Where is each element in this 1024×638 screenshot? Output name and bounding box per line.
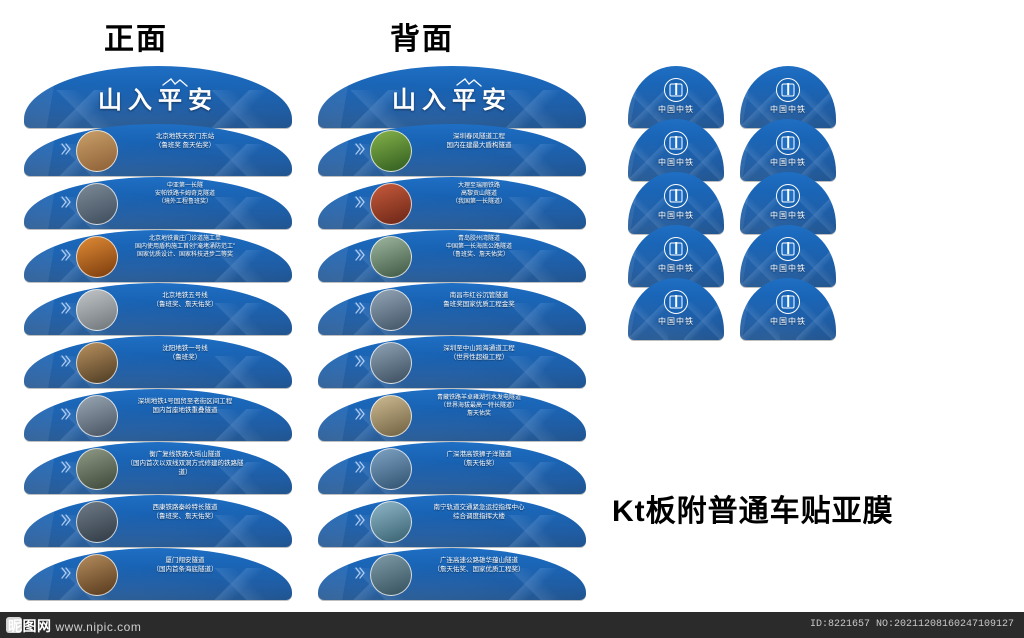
project-caption: 西康铁路秦岭特长隧道 （鲁班奖、詹天佑奖） bbox=[124, 504, 246, 522]
project-arch-row: 大理至瑞丽铁路 高黎贡山隧道 （我国第一长隧道） bbox=[318, 177, 586, 229]
project-caption: 沈阳地铁一号线 （鲁班奖） bbox=[124, 345, 246, 363]
project-caption: 深圳春风隧道工程 国内在建最大盾构隧道 bbox=[418, 133, 540, 151]
project-arch-row: 青岛胶州湾隧道 中国第一长海底公路隧道 （鲁班奖、詹天佑奖） bbox=[318, 230, 586, 282]
crcc-seal-icon bbox=[776, 237, 800, 261]
chevron-right-icon bbox=[60, 196, 72, 208]
project-caption: 厦门翔安隧道 （国内首条海底隧道） bbox=[124, 557, 246, 575]
project-arch-row: 深圳春风隧道工程 国内在建最大盾构隧道 bbox=[318, 124, 586, 176]
project-arch-row: 广连高速公路雄华蕴山隧道 （詹天佑奖、国家优质工程奖） bbox=[318, 548, 586, 600]
site-name-cn: 昵图网 bbox=[8, 618, 52, 634]
crcc-label: 中国中铁 bbox=[628, 157, 724, 168]
project-arch-row: 衡广复线铁路大瑶山隧道 （国内首次以双线双洞方式修建的铁路隧道） bbox=[24, 442, 292, 494]
chevron-right-icon bbox=[60, 461, 72, 473]
photo-shenzhen-metro bbox=[76, 395, 118, 437]
project-caption: 北京地铁天安门东站 （鲁班奖 詹天佑奖） bbox=[124, 133, 246, 151]
photo-honggu bbox=[370, 289, 412, 331]
crcc-label: 中国中铁 bbox=[740, 104, 836, 115]
crcc-arch: 中国中铁 bbox=[740, 278, 836, 340]
project-caption: 青岛胶州湾隧道 中国第一长海底公路隧道 （鲁班奖、詹天佑奖） bbox=[418, 236, 540, 259]
chevron-right-icon bbox=[60, 408, 72, 420]
crcc-seal-icon bbox=[664, 78, 688, 102]
project-caption: 南昌市红谷沉管隧道 鲁班奖国家优质工程金奖 bbox=[418, 292, 540, 310]
project-arch-row: 青藏铁路羊卓雍湖引水发电隧道 （世界海拔最高一特长隧道） 詹天佑奖 bbox=[318, 389, 586, 441]
crcc-arch: 中国中铁 bbox=[628, 278, 724, 340]
crcc-seal-icon bbox=[776, 131, 800, 155]
chevron-right-icon bbox=[60, 143, 72, 155]
photo-dayaoshan bbox=[76, 448, 118, 490]
photo-tunnel-orange bbox=[76, 236, 118, 278]
crcc-label: 中国中铁 bbox=[740, 316, 836, 327]
photo-jiaozhouwan bbox=[370, 236, 412, 278]
page-title-front: 正面 bbox=[104, 14, 168, 58]
project-caption: 广深港高铁狮子洋隧道 （詹天佑奖） bbox=[418, 451, 540, 469]
project-caption: 青藏铁路羊卓雍湖引水发电隧道 （世界海拔最高一特长隧道） 詹天佑奖 bbox=[418, 395, 540, 418]
crcc-seal-icon bbox=[664, 131, 688, 155]
kt-board-caption: Kt板附普通车贴亚膜 bbox=[612, 486, 894, 530]
crcc-label: 中国中铁 bbox=[628, 316, 724, 327]
photo-nanning bbox=[370, 501, 412, 543]
project-caption: 大理至瑞丽铁路 高黎贡山隧道 （我国第一长隧道） bbox=[418, 183, 540, 206]
crcc-label: 中国中铁 bbox=[628, 263, 724, 274]
chevron-right-icon bbox=[354, 196, 366, 208]
crcc-label: 中国中铁 bbox=[740, 263, 836, 274]
project-arch-row: 中亚第一长隧 安帕铁路卡姆奇克隧道 （境外工程鲁班奖） bbox=[24, 177, 292, 229]
chevron-right-icon bbox=[354, 355, 366, 367]
photo-qinghai bbox=[370, 395, 412, 437]
image-id-text: ID:8221657 NO:20211208160247109127 bbox=[810, 619, 1014, 630]
project-arch-row: 北京地铁天安门东站 （鲁班奖 詹天佑奖） bbox=[24, 124, 292, 176]
poster-canvas: 正面 背面 山入平安北京地铁天安门东站 （鲁班奖 詹天佑奖）中亚第一长隧 安帕铁… bbox=[0, 0, 1024, 638]
banner-logo-text: 山入平安 bbox=[392, 80, 512, 115]
banner-arch: 山入平安 bbox=[318, 66, 586, 128]
chevron-right-icon bbox=[354, 143, 366, 155]
photo-shenzhongtong bbox=[370, 342, 412, 384]
project-arch-row: 厦门翔安隧道 （国内首条海底隧道） bbox=[24, 548, 292, 600]
project-caption: 南宁轨道交通紧急运控指挥中心 综合调度指挥大楼 bbox=[418, 504, 540, 522]
photo-xiangan bbox=[76, 554, 118, 596]
photo-tiananmen bbox=[76, 130, 118, 172]
project-caption: 北京地铁五号线 （鲁班奖、詹天佑奖） bbox=[124, 292, 246, 310]
crcc-seal-icon bbox=[776, 290, 800, 314]
chevron-right-icon bbox=[354, 302, 366, 314]
crcc-seal-icon bbox=[664, 184, 688, 208]
chevron-right-icon bbox=[354, 408, 366, 420]
photo-shiziyang bbox=[370, 448, 412, 490]
crcc-seal-icon bbox=[776, 184, 800, 208]
project-arch-row: 广深港高铁狮子洋隧道 （詹天佑奖） bbox=[318, 442, 586, 494]
chevron-right-icon bbox=[354, 461, 366, 473]
chevron-right-icon bbox=[60, 567, 72, 579]
photo-gaoligongshan bbox=[370, 183, 412, 225]
banner-arch: 山入平安 bbox=[24, 66, 292, 128]
crcc-seal-icon bbox=[776, 78, 800, 102]
chevron-right-icon bbox=[354, 567, 366, 579]
photo-chunfeng bbox=[370, 130, 412, 172]
site-url: www.nipic.com bbox=[56, 620, 142, 634]
project-arch-row: 北京地铁黄庄门诊道施工单 国内使用盾构施工首创“淹堵涌防范工” 国家优质设计、国… bbox=[24, 230, 292, 282]
page-title-back: 背面 bbox=[390, 14, 454, 58]
banner-logo-text: 山入平安 bbox=[98, 80, 218, 115]
project-caption: 广连高速公路雄华蕴山隧道 （詹天佑奖、国家优质工程奖） bbox=[418, 557, 540, 575]
crcc-label: 中国中铁 bbox=[628, 210, 724, 221]
watermark-text: 昵图网www.nipic.com bbox=[8, 616, 141, 636]
project-caption: 深圳至中山跨海通道工程 （世界性超级工程） bbox=[418, 345, 540, 363]
project-arch-row: 深圳至中山跨海通道工程 （世界性超级工程） bbox=[318, 336, 586, 388]
photo-shenyang-metro bbox=[76, 342, 118, 384]
project-caption: 北京地铁黄庄门诊道施工单 国内使用盾构施工首创“淹堵涌防范工” 国家优质设计、国… bbox=[124, 236, 246, 259]
chevron-right-icon bbox=[60, 302, 72, 314]
project-arch-row: 南昌市红谷沉管隧道 鲁班奖国家优质工程金奖 bbox=[318, 283, 586, 335]
chevron-right-icon bbox=[354, 249, 366, 261]
crcc-label: 中国中铁 bbox=[628, 104, 724, 115]
photo-guanglian bbox=[370, 554, 412, 596]
photo-kamchik bbox=[76, 183, 118, 225]
photo-metro-line5 bbox=[76, 289, 118, 331]
project-arch-row: 西康铁路秦岭特长隧道 （鲁班奖、詹天佑奖） bbox=[24, 495, 292, 547]
chevron-right-icon bbox=[60, 514, 72, 526]
crcc-label: 中国中铁 bbox=[740, 157, 836, 168]
project-caption: 衡广复线铁路大瑶山隧道 （国内首次以双线双洞方式修建的铁路隧道） bbox=[124, 451, 246, 477]
footer-watermark-bar: 昵图网www.nipic.com ID:8221657 NO:202112081… bbox=[0, 612, 1024, 638]
crcc-seal-icon bbox=[664, 290, 688, 314]
crcc-seal-icon bbox=[664, 237, 688, 261]
chevron-right-icon bbox=[60, 249, 72, 261]
project-caption: 深圳地铁1号国贸至老街区间工程 国内首座地铁重叠隧道 bbox=[124, 398, 246, 416]
project-arch-row: 北京地铁五号线 （鲁班奖、詹天佑奖） bbox=[24, 283, 292, 335]
project-caption: 中亚第一长隧 安帕铁路卡姆奇克隧道 （境外工程鲁班奖） bbox=[124, 183, 246, 206]
project-arch-row: 深圳地铁1号国贸至老街区间工程 国内首座地铁重叠隧道 bbox=[24, 389, 292, 441]
photo-qinling bbox=[76, 501, 118, 543]
chevron-right-icon bbox=[354, 514, 366, 526]
chevron-right-icon bbox=[60, 355, 72, 367]
project-arch-row: 沈阳地铁一号线 （鲁班奖） bbox=[24, 336, 292, 388]
crcc-label: 中国中铁 bbox=[740, 210, 836, 221]
project-arch-row: 南宁轨道交通紧急运控指挥中心 综合调度指挥大楼 bbox=[318, 495, 586, 547]
